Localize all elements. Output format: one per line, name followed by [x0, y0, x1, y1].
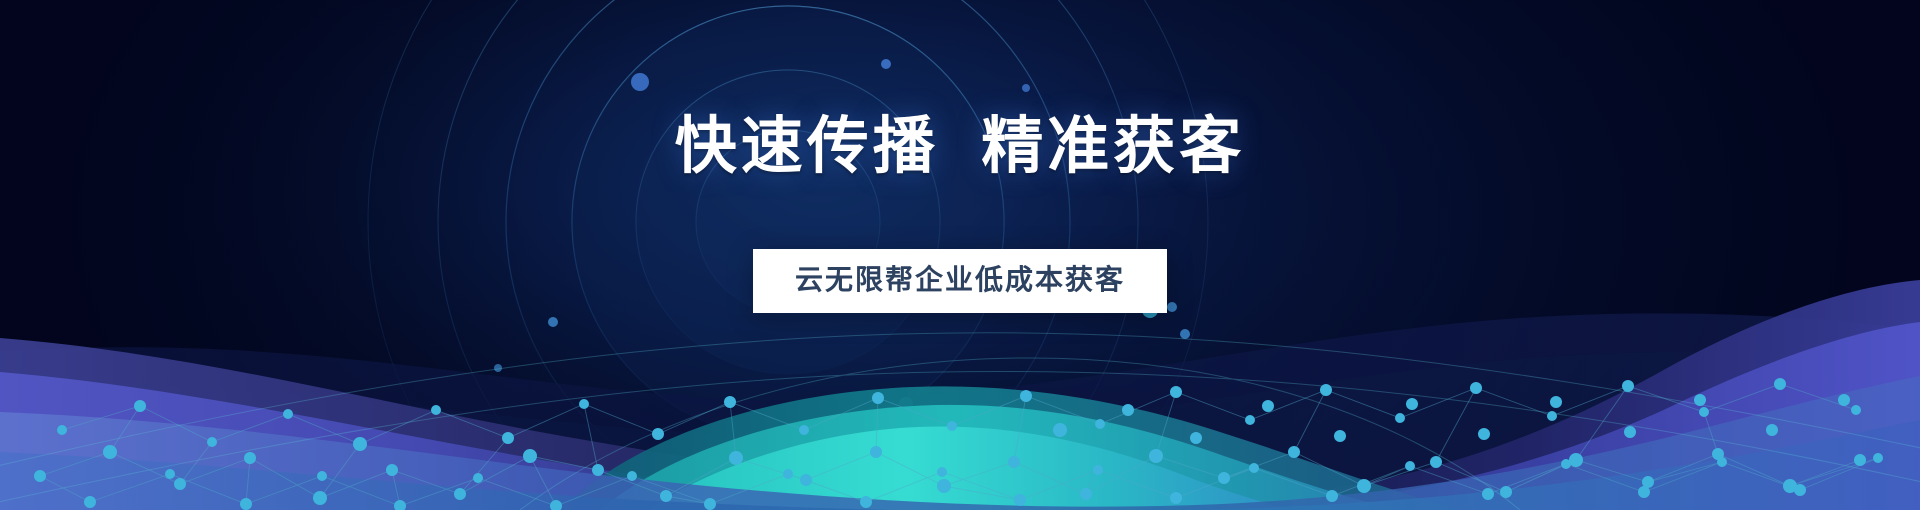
page-title: 快速传播 精准获客 — [675, 112, 1245, 181]
subtitle-text: 云无限帮企业低成本获客 — [795, 264, 1125, 295]
hero-banner: 快速传播 精准获客 云无限帮企业低成本获客 — [0, 0, 1920, 510]
network-node-group — [34, 378, 1883, 510]
subtitle-box: 云无限帮企业低成本获客 — [753, 249, 1167, 313]
